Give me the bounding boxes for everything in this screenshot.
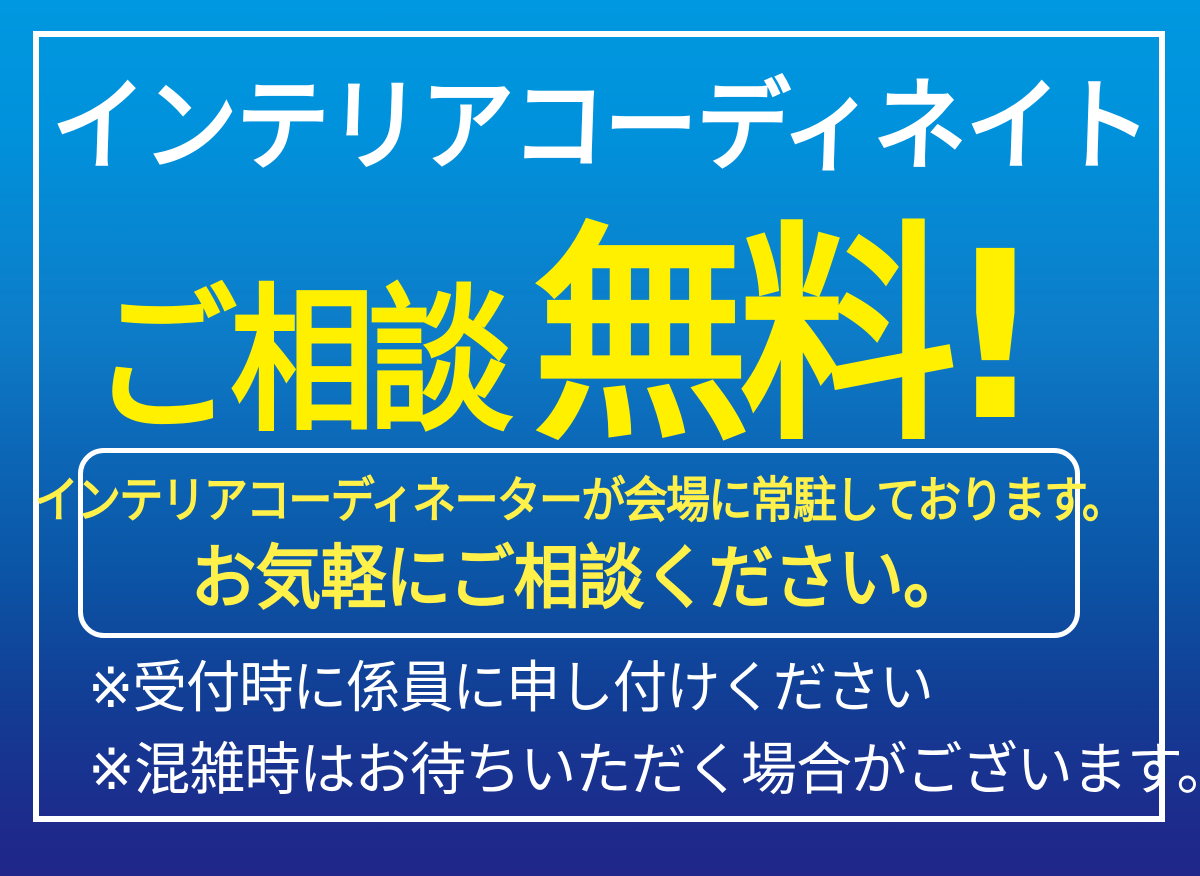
headline-small-text: ご相談 [92,290,506,435]
callout-line-emphasis: お気軽にご相談ください。 [190,543,967,613]
note-item: ※混雑時はお待ちいただく場合がございます。 [88,729,1103,812]
callout-box: インテリアコーディネーターが会場に常駐しております。 お気軽にご相談ください。 [78,448,1080,638]
notes-list: ※受付時に係員に申し付けください ※混雑時はお待ちいただく場合がございます。 [88,648,1118,812]
note-item: ※受付時に係員に申し付けください [88,648,1087,729]
headline-big-text: 無料! [532,231,1034,444]
callout-line-primary: インテリアコーディネーターが会場に常駐しております。 [34,476,1124,525]
poster-title-text: インテリアコーディネイト [49,76,1151,177]
headline-group: ご相談無料! [70,205,1130,435]
poster-title: インテリアコーディネイト [60,66,1140,186]
promotional-poster: インテリアコーディネイト ご相談無料! インテリアコーディネーターが会場に常駐し… [0,0,1200,876]
